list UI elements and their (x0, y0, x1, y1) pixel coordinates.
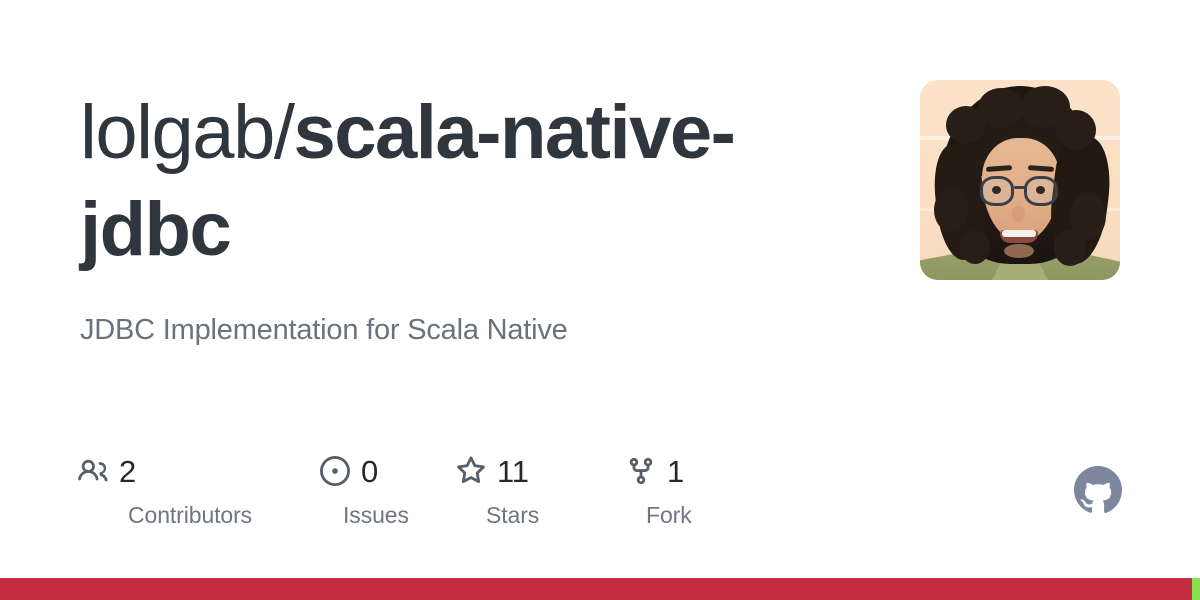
language-segment-secondary (1192, 578, 1200, 600)
star-icon (456, 456, 486, 486)
stat-stars-value: 11 (497, 456, 529, 487)
stat-contributors: 2 Contributors (78, 452, 282, 529)
github-mark-icon (1074, 466, 1122, 514)
stat-stars-top: 11 (456, 452, 529, 490)
stat-issues-top: 0 (320, 452, 378, 490)
stat-issues-label: Issues (343, 502, 409, 529)
stat-fork-top: 1 (626, 452, 684, 490)
people-icon (78, 456, 108, 486)
language-segment-primary (0, 578, 1192, 600)
stat-contributors-label: Contributors (128, 502, 252, 529)
repo-forked-icon (626, 456, 656, 486)
stat-stars: 11 Stars (452, 452, 604, 529)
stat-fork-value: 1 (667, 456, 684, 487)
photo-mouth (1000, 230, 1038, 243)
photo-eye-left (992, 186, 1001, 194)
language-bar (0, 578, 1200, 600)
photo-chin (1004, 244, 1034, 258)
repo-description: JDBC Implementation for Scala Native (80, 312, 880, 350)
photo-nose (1012, 206, 1025, 222)
photo-eye-right (1036, 186, 1045, 194)
stat-fork: 1 Fork (604, 452, 724, 529)
issue-opened-icon (320, 456, 350, 486)
page-title: lolgab/scala-native-jdbc (80, 84, 860, 279)
stat-contributors-top: 2 (78, 452, 136, 490)
repo-stats: 2 Contributors 0 Issues (78, 452, 724, 529)
repo-social-preview-card: lolgab/scala-native-jdbc JDBC Implementa… (0, 0, 1200, 600)
stat-fork-label: Fork (646, 502, 692, 529)
stat-issues: 0 Issues (282, 452, 452, 529)
photo-glasses-bridge (1014, 186, 1026, 189)
owner-avatar-photo (920, 80, 1120, 280)
stat-issues-value: 0 (361, 456, 378, 487)
repo-owner: lolgab/ (80, 90, 293, 175)
avatar (920, 80, 1120, 280)
stat-stars-label: Stars (486, 502, 539, 529)
stat-contributors-value: 2 (119, 456, 136, 487)
